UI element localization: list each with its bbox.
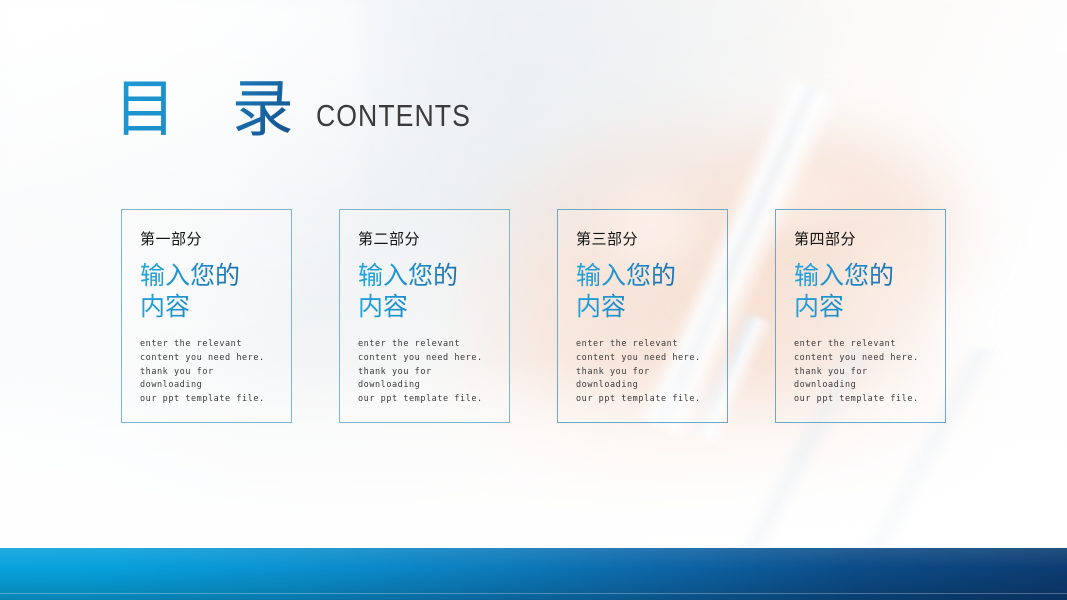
card-body-2: enter the relevant content you need here… [358, 338, 495, 407]
slide-canvas: 目 录 CONTENTS 第一部分 输入您的 内容 enter the rele… [0, 0, 1067, 600]
card-kicker-3: 第三部分 [576, 232, 713, 247]
page-title-en: CONTENTS [316, 98, 471, 134]
footer-accent-bar-rule [0, 593, 1067, 594]
contents-card-2[interactable]: 第二部分 输入您的 内容 enter the relevant content … [339, 209, 510, 423]
card-heading-2: 输入您的 内容 [358, 261, 495, 322]
card-heading-1: 输入您的 内容 [140, 261, 277, 322]
contents-card-list: 第一部分 输入您的 内容 enter the relevant content … [121, 209, 946, 423]
card-body-4: enter the relevant content you need here… [794, 338, 931, 407]
card-body-3: enter the relevant content you need here… [576, 338, 713, 407]
card-heading-3: 输入您的 内容 [576, 261, 713, 322]
card-body-1: enter the relevant content you need here… [140, 338, 277, 407]
page-title-cn: 目 录 [114, 78, 312, 140]
card-kicker-1: 第一部分 [140, 232, 277, 247]
card-kicker-2: 第二部分 [358, 232, 495, 247]
footer-accent-bar [0, 548, 1067, 600]
slide-header: 目 录 CONTENTS [114, 78, 496, 140]
contents-card-4[interactable]: 第四部分 输入您的 内容 enter the relevant content … [775, 209, 946, 423]
card-heading-4: 输入您的 内容 [794, 261, 931, 322]
contents-card-3[interactable]: 第三部分 输入您的 内容 enter the relevant content … [557, 209, 728, 423]
contents-card-1[interactable]: 第一部分 输入您的 内容 enter the relevant content … [121, 209, 292, 423]
card-kicker-4: 第四部分 [794, 232, 931, 247]
